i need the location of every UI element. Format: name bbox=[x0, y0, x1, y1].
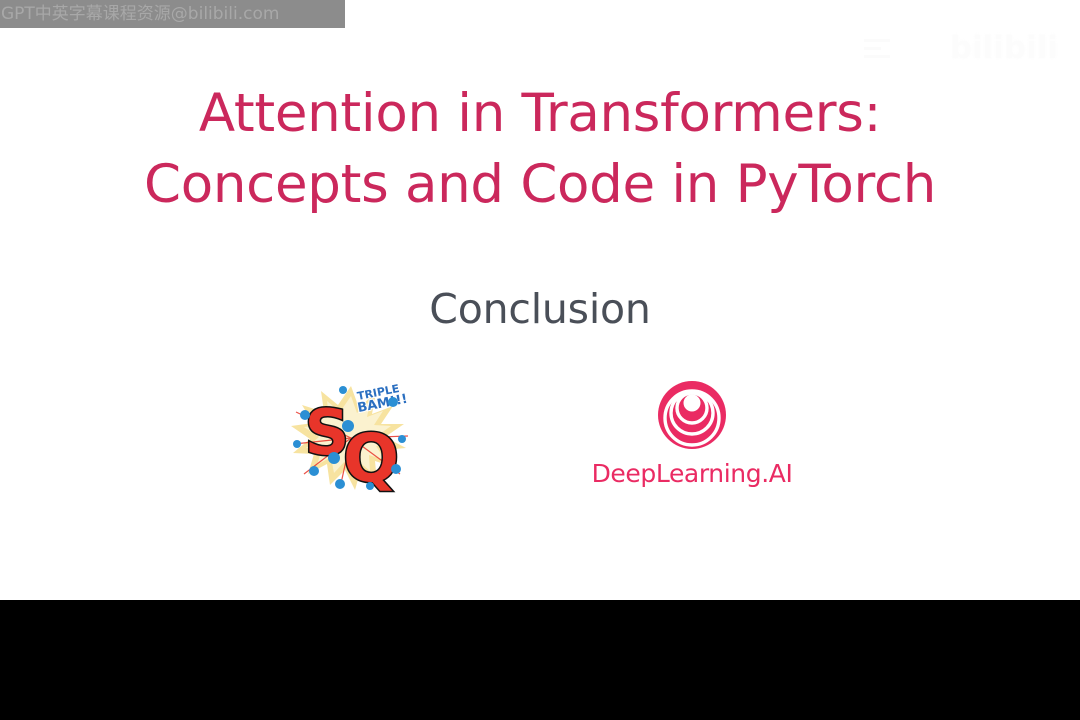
bilibili-wordmark: bilibili bbox=[950, 33, 1058, 64]
logo-row: S Q TRIPLE BAM!!! bbox=[0, 380, 1080, 510]
video-player-frame: GPT中英字幕课程资源@bilibili.com bilibili Attent… bbox=[0, 0, 1080, 720]
page-title: Attention in Transformers: Concepts and … bbox=[0, 78, 1080, 220]
statquest-logo: S Q TRIPLE BAM!!! bbox=[288, 382, 414, 494]
triple-bam-callout: TRIPLE BAM!!! bbox=[354, 382, 409, 416]
watermark-banner-top-left: GPT中英字幕课程资源@bilibili.com bbox=[0, 0, 345, 28]
letterbox-bottom bbox=[0, 600, 1080, 720]
deeplearning-ai-logo: DeepLearning.AI bbox=[592, 380, 792, 498]
slide-subtitle: Conclusion bbox=[0, 281, 1080, 337]
deeplearning-ai-mark-icon bbox=[657, 380, 727, 450]
bilibili-watermark: bilibili bbox=[838, 24, 1058, 72]
title-line-1: Attention in Transformers: bbox=[0, 78, 1080, 149]
watermark-bars-icon bbox=[864, 39, 890, 58]
deeplearning-ai-wordmark: DeepLearning.AI bbox=[592, 461, 793, 486]
watermark-text: GPT中英字幕课程资源@bilibili.com bbox=[0, 0, 279, 28]
presentation-slide: GPT中英字幕课程资源@bilibili.com bilibili Attent… bbox=[0, 0, 1080, 600]
title-line-2: Concepts and Code in PyTorch bbox=[0, 149, 1080, 220]
